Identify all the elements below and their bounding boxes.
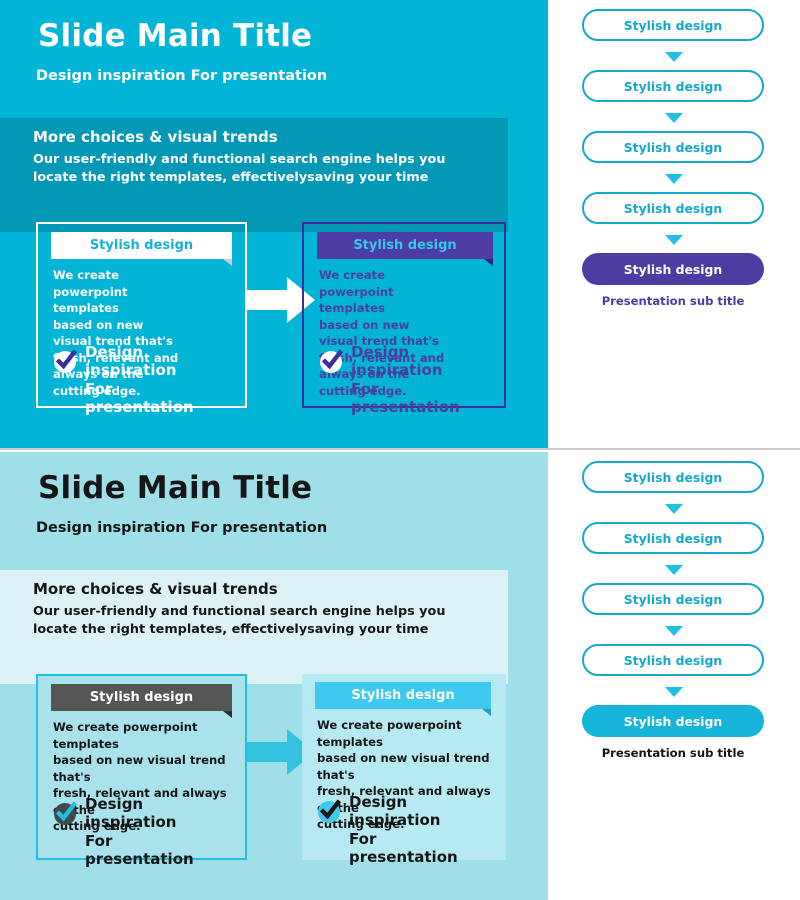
feature-card-left[interactable]: Stylish design We create powerpoint temp… [36, 222, 247, 408]
triangle-down-icon [665, 52, 683, 62]
triangle-down-icon [665, 113, 683, 123]
info-band: More choices & visual trends Our user-fr… [0, 570, 508, 684]
check-icon [316, 796, 344, 824]
step-pill-2[interactable]: Stylish design [582, 522, 764, 554]
page-subtitle: Design inspiration For presentation [36, 520, 327, 536]
step-pill-2[interactable]: Stylish design [582, 70, 764, 102]
step-pill-3[interactable]: Stylish design [582, 131, 764, 163]
card-ribbon: Stylish design [51, 232, 232, 259]
card-ribbon-label: Stylish design [51, 232, 232, 259]
info-band-title: More choices & visual trends [33, 580, 278, 598]
side-subtitle: Presentation sub title [582, 294, 764, 308]
step-pill-final[interactable]: Stylish design [582, 253, 764, 285]
info-band-title: More choices & visual trends [33, 128, 278, 146]
check-icon [318, 346, 346, 374]
slide-divider [0, 448, 800, 450]
slide-top: Slide Main Title Design inspiration For … [0, 0, 800, 448]
card-ribbon-label: Stylish design [315, 682, 491, 709]
step-pill-1[interactable]: Stylish design [582, 461, 764, 493]
triangle-down-icon [665, 626, 683, 636]
card-cta-text: Design inspiration For presentation [85, 343, 194, 416]
card-ribbon: Stylish design [315, 682, 491, 709]
page-subtitle: Design inspiration For presentation [36, 68, 327, 84]
slide-bottom: Slide Main Title Design inspiration For … [0, 452, 800, 900]
step-pill-4[interactable]: Stylish design [582, 644, 764, 676]
presentation-template-preview: Slide Main Title Design inspiration For … [0, 0, 800, 900]
slide-top-side: Stylish design Stylish design Stylish de… [548, 0, 800, 448]
ribbon-fold-icon [482, 709, 491, 716]
page-title: Slide Main Title [38, 18, 312, 54]
info-band-body: Our user-friendly and functional search … [33, 151, 488, 187]
check-icon [52, 346, 80, 374]
card-cta-text: Design inspiration For presentation [349, 793, 458, 866]
slide-top-main: Slide Main Title Design inspiration For … [0, 0, 548, 448]
side-subtitle: Presentation sub title [582, 746, 764, 760]
triangle-down-icon [665, 174, 683, 184]
card-ribbon: Stylish design [51, 684, 232, 711]
slide-bottom-side: Stylish design Stylish design Stylish de… [548, 452, 800, 900]
card-ribbon-label: Stylish design [51, 684, 232, 711]
step-pill-1[interactable]: Stylish design [582, 9, 764, 41]
check-icon [52, 798, 80, 826]
ribbon-fold-icon [223, 711, 232, 718]
page-title: Slide Main Title [38, 470, 312, 506]
feature-card-right[interactable]: Stylish design We create powerpoint temp… [302, 674, 506, 860]
card-cta-text: Design inspiration For presentation [85, 795, 194, 868]
card-cta-text: Design inspiration For presentation [351, 343, 460, 416]
feature-card-left[interactable]: Stylish design We create powerpoint temp… [36, 674, 247, 860]
info-band-body: Our user-friendly and functional search … [33, 603, 488, 639]
feature-card-right[interactable]: Stylish design We create powerpoint temp… [302, 222, 506, 408]
ribbon-fold-icon [484, 259, 493, 266]
info-band: More choices & visual trends Our user-fr… [0, 118, 508, 232]
card-ribbon: Stylish design [317, 232, 493, 259]
ribbon-fold-icon [223, 259, 232, 266]
step-pill-3[interactable]: Stylish design [582, 583, 764, 615]
card-ribbon-label: Stylish design [317, 232, 493, 259]
triangle-down-icon [665, 565, 683, 575]
triangle-down-icon [665, 235, 683, 245]
step-pill-4[interactable]: Stylish design [582, 192, 764, 224]
step-pill-final[interactable]: Stylish design [582, 705, 764, 737]
triangle-down-icon [665, 504, 683, 514]
slide-bottom-main: Slide Main Title Design inspiration For … [0, 452, 548, 900]
triangle-down-icon [665, 687, 683, 697]
